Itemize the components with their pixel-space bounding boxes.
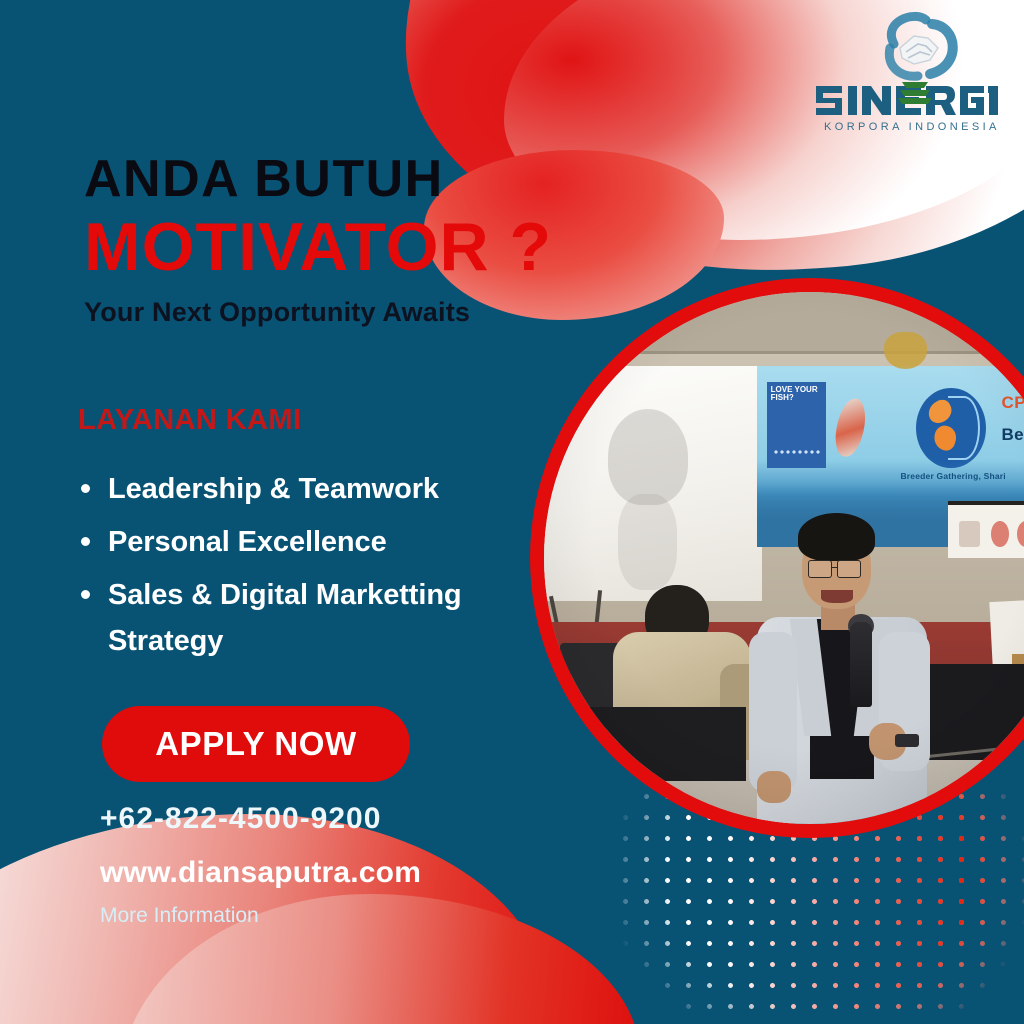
logo-tagline-text: KORPORA INDONESIA	[824, 121, 1000, 133]
website-url[interactable]: www.diansaputra.com	[100, 856, 421, 890]
list-item: Leadership & Teamwork	[78, 467, 548, 512]
speaker-photo: LOVE YOUR FISH? CPP Berd Breeder Gatheri…	[544, 292, 1024, 824]
apply-now-button[interactable]: APPLY NOW	[102, 706, 410, 782]
headline-line1: ANDA BUTUH	[84, 152, 644, 206]
more-information-label: More Information	[100, 904, 421, 928]
sinergi-logo: KORPORA INDONESIA	[802, 8, 1002, 140]
logo-graphic: KORPORA INDONESIA	[802, 8, 1002, 140]
promo-poster: KORPORA INDONESIA ANDA BUTUH MOTIVATOR ?…	[0, 0, 1024, 1024]
contact-block: +62-822-4500-9200 www.diansaputra.com Mo…	[100, 802, 421, 928]
handshake-icon	[900, 36, 938, 64]
services-block: LAYANAN KAMI Leadership & Teamwork Perso…	[78, 404, 548, 672]
list-item: Personal Excellence	[78, 520, 548, 565]
services-list: Leadership & Teamwork Personal Excellenc…	[78, 467, 548, 664]
list-item: Sales & Digital Marketting Strategy	[78, 573, 548, 663]
phone-number[interactable]: +62-822-4500-9200	[100, 802, 421, 836]
services-title: LAYANAN KAMI	[78, 404, 548, 437]
headline-line2: MOTIVATOR ?	[84, 212, 644, 283]
logo-building-shape	[898, 82, 932, 104]
